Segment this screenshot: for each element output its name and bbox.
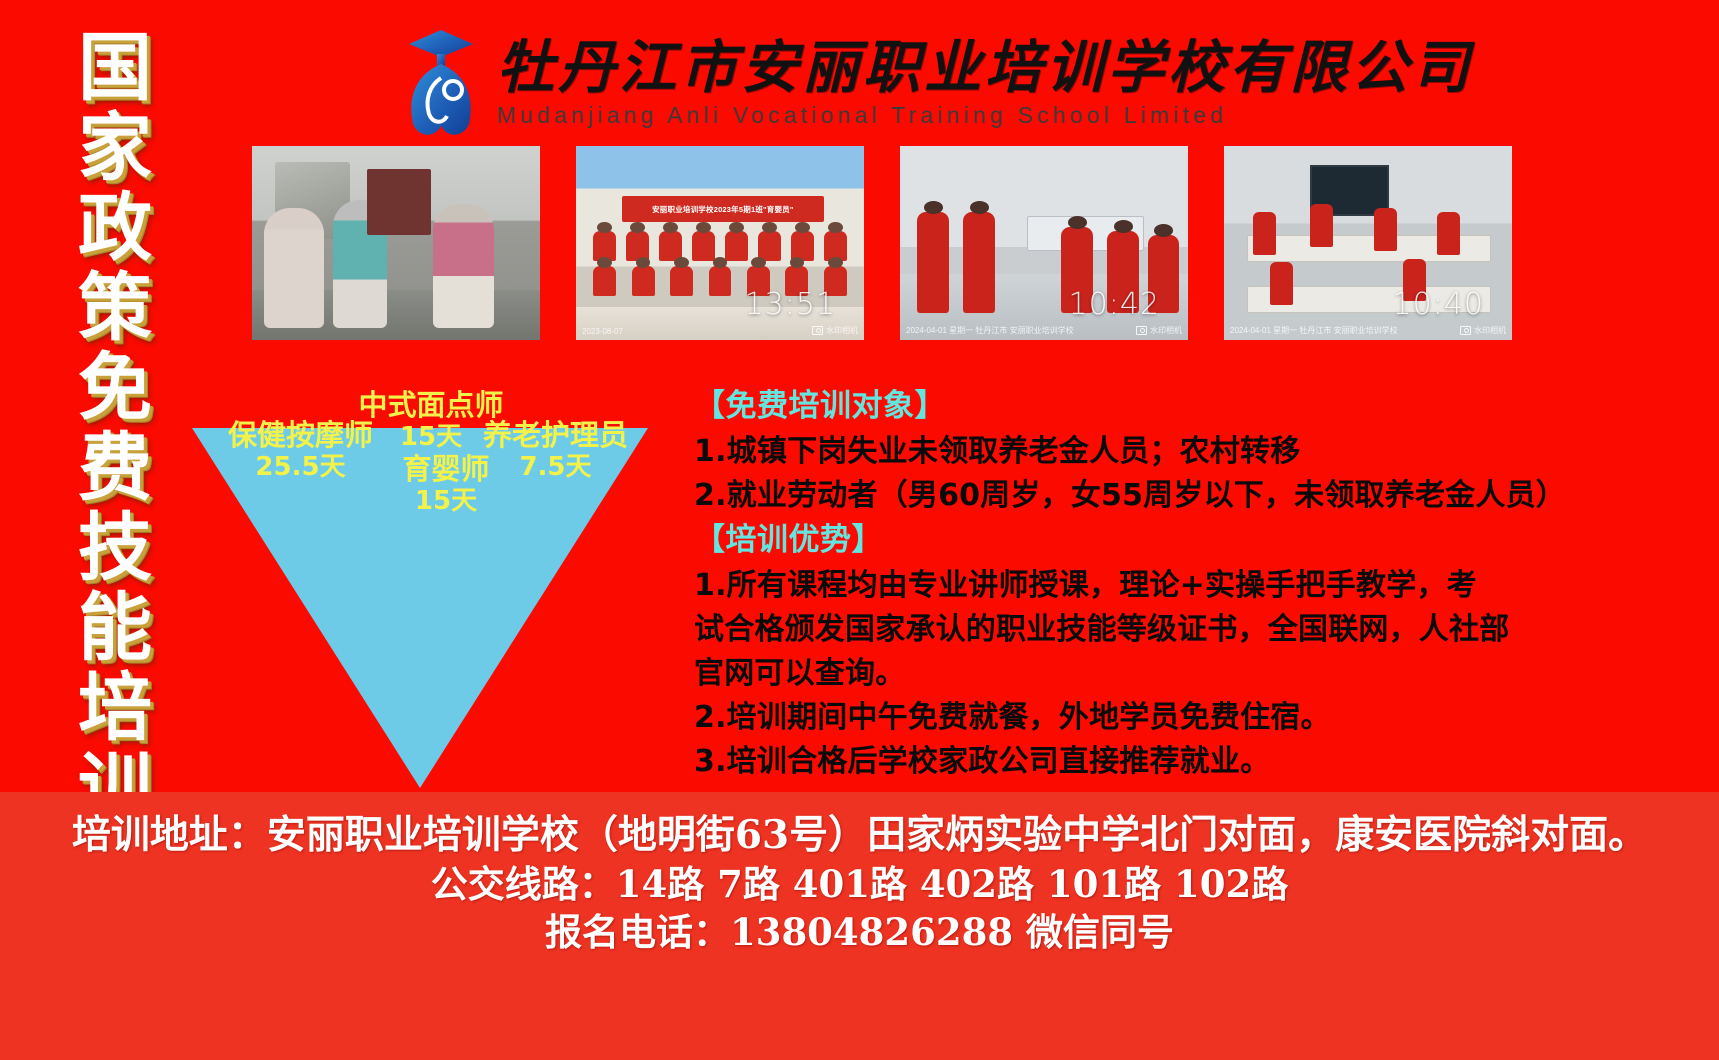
photo-pastry-kitchen-class xyxy=(252,146,540,340)
photo-strip: 安丽职业培训学校2023年5期1班"育婴员" 13:51 2023-08-07 … xyxy=(252,146,1512,340)
course-row-top: 保健按摩师 25.5天 养老护理员 7.5天 xyxy=(228,418,628,482)
photo-timestamp: 10:40 xyxy=(1393,287,1484,322)
advantage-line: 1.所有课程均由专业讲师授课，理论+实操手把手教学，考 xyxy=(694,564,1704,608)
school-names: 牡丹江市安丽职业培训学校有限公司 Mudanjiang Anli Vocatio… xyxy=(497,37,1473,129)
graduation-cap-logo xyxy=(395,26,487,136)
info-column: 【免费培训对象】 1.城镇下岗失业未领取养老金人员；农村转移 2.就业劳动者（男… xyxy=(694,384,1704,784)
poster-root: 国 家 政 策 免 费 技 能 培 训 xyxy=(0,0,1719,1060)
photo-date: 2023-08-07 xyxy=(582,327,623,336)
footer-address: 培训地址：安丽职业培训学校（地明街63号）田家炳实验中学北门对面，康安医院斜对面… xyxy=(72,810,1647,860)
vertical-title-char: 费 xyxy=(78,428,152,508)
camera-icon xyxy=(1460,326,1471,335)
camera-icon xyxy=(1136,326,1147,335)
course-labels: 保健按摩师 25.5天 养老护理员 7.5天 中式面点师 15天 育婴师 15天 xyxy=(170,388,670,788)
photo-classroom-training: 10:40 2024-04-01 星期一 牡丹江市 安丽职业培训学校 水印相机 xyxy=(1224,146,1512,340)
vertical-title-char: 免 xyxy=(78,348,152,428)
footer-bus-routes: 公交线路：14路 7路 401路 402路 101路 102路 xyxy=(431,860,1289,908)
vertical-title-char: 培 xyxy=(78,668,152,748)
watermark-camera-label: 水印相机 xyxy=(812,325,858,336)
photo-timestamp: 13:51 xyxy=(745,287,836,322)
poster-header: 牡丹江市安丽职业培训学校有限公司 Mudanjiang Anli Vocatio… xyxy=(395,22,1295,140)
vertical-title: 国 家 政 策 免 费 技 能 培 训 xyxy=(60,28,170,758)
vertical-title-char: 策 xyxy=(78,268,152,348)
course-triangle: 保健按摩师 25.5天 养老护理员 7.5天 中式面点师 15天 育婴师 15天 xyxy=(170,388,670,788)
section-heading-eligibility: 【免费培训对象】 xyxy=(694,384,1704,428)
vertical-title-char: 家 xyxy=(78,108,152,188)
vertical-title-char: 国 xyxy=(78,28,152,108)
photo-date: 2024-04-01 星期一 牡丹江市 安丽职业培训学校 xyxy=(906,325,1074,336)
vertical-title-char: 政 xyxy=(78,188,152,268)
course-item-eldercare: 养老护理员 7.5天 xyxy=(483,418,628,482)
photo-elderly-care-practice: 10:42 2024-04-01 星期一 牡丹江市 安丽职业培训学校 水印相机 xyxy=(900,146,1188,340)
vertical-title-char: 能 xyxy=(78,588,152,668)
course-item-massage: 保健按摩师 25.5天 xyxy=(228,418,373,482)
advantage-line: 官网可以查询。 xyxy=(694,652,1704,696)
advantage-line: 试合格颁发国家承认的职业技能等级证书，全国联网，人社部 xyxy=(694,608,1704,652)
advantage-line: 3.培训合格后学校家政公司直接推荐就业。 xyxy=(694,740,1704,784)
vertical-title-char: 技 xyxy=(78,508,152,588)
photo-banner-text: 安丽职业培训学校2023年5期1班"育婴员" xyxy=(622,196,824,221)
section-heading-advantages: 【培训优势】 xyxy=(694,518,1704,562)
school-name-en: Mudanjiang Anli Vocational Training Scho… xyxy=(497,101,1473,129)
eligibility-line: 1.城镇下岗失业未领取养老金人员；农村转移 xyxy=(694,430,1704,474)
eligibility-line: 2.就业劳动者（男60周岁，女55周岁以下，未领取养老金人员） xyxy=(694,474,1704,518)
camera-icon xyxy=(812,326,823,335)
photo-timestamp: 10:42 xyxy=(1069,287,1160,322)
photo-group-infant-care: 安丽职业培训学校2023年5期1班"育婴员" 13:51 2023-08-07 … xyxy=(576,146,864,340)
footer-banner: 培训地址：安丽职业培训学校（地明街63号）田家炳实验中学北门对面，康安医院斜对面… xyxy=(0,792,1719,1060)
watermark-camera-label: 水印相机 xyxy=(1460,325,1506,336)
watermark-camera-label: 水印相机 xyxy=(1136,325,1182,336)
advantage-line: 2.培训期间中午免费就餐，外地学员免费住宿。 xyxy=(694,696,1704,740)
photo-date: 2024-04-01 星期一 牡丹江市 安丽职业培训学校 xyxy=(1230,325,1398,336)
school-name-cn: 牡丹江市安丽职业培训学校有限公司 xyxy=(497,37,1473,99)
footer-phone: 报名电话：13804826288 微信同号 xyxy=(545,908,1174,956)
